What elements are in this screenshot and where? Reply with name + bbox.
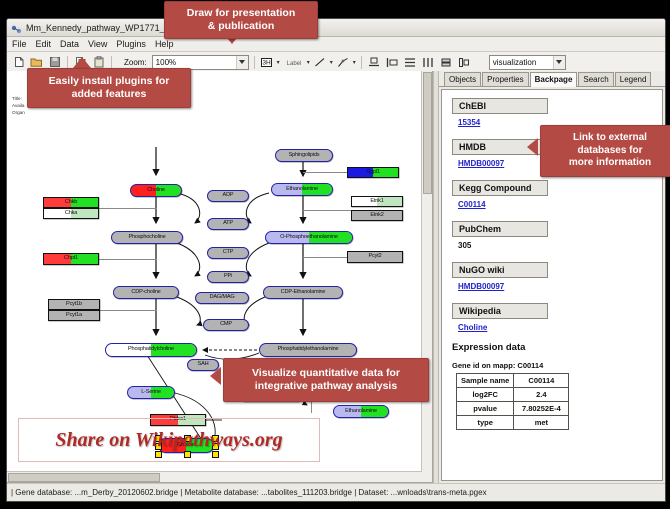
scrollbar-thumb[interactable]: [423, 72, 432, 194]
table-cell-key: Sample name: [457, 374, 514, 388]
distribute-vertical-icon[interactable]: [403, 55, 418, 70]
node-label: Pcyt2: [369, 254, 382, 260]
expression-data-heading: Expression data: [452, 342, 662, 353]
database-link-nugo-wiki[interactable]: HMDB00097: [458, 282, 662, 291]
node-label: Chpt1: [64, 256, 78, 262]
line-icon[interactable]: [313, 55, 328, 70]
menu-item-help[interactable]: Help: [155, 39, 174, 49]
node-label: ATP: [223, 221, 233, 227]
enzyme-connector: [303, 210, 353, 211]
database-link-kegg-compound[interactable]: C00114: [458, 200, 662, 209]
canvas-horizontal-scrollbar[interactable]: [7, 471, 422, 482]
callout-plugins: Easily install plugins for added feature…: [27, 68, 191, 108]
table-cell-key: pvalue: [457, 402, 514, 416]
tab-legend[interactable]: Legend: [615, 72, 652, 86]
zoom-value: 100%: [156, 58, 176, 67]
table-row: log2FC2.4: [457, 388, 569, 402]
menu-item-plugins[interactable]: Plugins: [116, 39, 146, 49]
table-row: typemet: [457, 416, 569, 430]
database-name-chebi: ChEBI: [452, 98, 548, 114]
node-label: Phosphocholine: [128, 235, 165, 241]
zoom-label: Zoom:: [124, 58, 147, 67]
database-name-wikipedia: Wikipedia: [452, 303, 548, 319]
chevron-down-icon[interactable]: [553, 56, 565, 69]
node-label: CMP: [220, 322, 232, 328]
callout-visualize-line2: integrative pathway analysis: [255, 380, 397, 393]
node-label: Sgpl1: [366, 170, 379, 176]
stack-icon[interactable]: [439, 55, 454, 70]
database-value-pubchem: 305: [458, 241, 662, 250]
callout-links-line2: databases for: [577, 145, 642, 158]
gene-product-node[interactable]: Sgpl1: [347, 167, 399, 178]
new-file-icon[interactable]: [11, 55, 26, 70]
tab-objects[interactable]: Objects: [444, 72, 481, 86]
gene-id-line: Gene id on mapp: C00114: [452, 361, 662, 370]
chevron-down-icon[interactable]: [236, 56, 248, 69]
callout-share: Share on Wikipathways.org: [18, 418, 320, 462]
tab-label: Properties: [487, 75, 523, 84]
node-label: Etnk2: [370, 213, 383, 219]
tab-backpage[interactable]: Backpage: [530, 72, 578, 87]
node-label: O-Phosphoethanolamine: [280, 235, 338, 241]
visualization-combo[interactable]: visualization: [489, 55, 566, 70]
gene-product-node[interactable]: Pcyt1b: [48, 299, 100, 310]
node-label: Phosphatidylethanolamine: [278, 347, 339, 353]
metabolite-node[interactable]: CTP: [207, 247, 249, 259]
chevron-down-icon[interactable]: ▾: [307, 59, 310, 66]
node-label: CTP: [223, 250, 234, 256]
metabolite-node[interactable]: ADP: [207, 190, 249, 202]
table-cell-value: met: [514, 416, 569, 430]
metabolite-node[interactable]: Ethanolamine: [271, 183, 333, 196]
expression-data-table: Sample nameC00114log2FC2.4pvalue7.80252E…: [456, 373, 569, 430]
node-label: Ethanolamine: [286, 187, 318, 193]
callout-plugins-line2: added features: [72, 88, 147, 101]
node-label: PPi: [224, 274, 232, 280]
database-name-kegg-compound: Kegg Compound: [452, 180, 548, 196]
metabolite-node[interactable]: Ethanolamine: [333, 405, 389, 418]
database-link-wikipedia[interactable]: Choline: [458, 323, 662, 332]
callout-links: Link to external databases for more info…: [540, 125, 670, 177]
callout-plugins-line1: Easily install plugins for: [49, 75, 170, 88]
gene-product-node[interactable]: Etnk2: [351, 210, 403, 221]
enzyme-connector: [99, 259, 157, 260]
tab-label: Search: [583, 75, 608, 84]
side-panel-tabs: ObjectsPropertiesBackpageSearchLegend: [439, 71, 665, 87]
toolbar-separator: [361, 56, 362, 69]
enzyme-connector: [99, 208, 157, 209]
status-text: | Gene database: ...m_Derby_20120602.bri…: [11, 488, 487, 497]
metabolite-node[interactable]: ATP: [207, 218, 249, 230]
scrollbar-thumb[interactable]: [8, 473, 160, 482]
callout-links-pointer: [527, 138, 538, 156]
enzyme-connector: [303, 172, 349, 173]
metabolite-node[interactable]: CDP-choline: [113, 286, 179, 299]
callout-visualize-line1: Visualize quantitative data for: [252, 367, 400, 380]
tab-properties[interactable]: Properties: [482, 72, 528, 86]
table-row: Sample nameC00114: [457, 374, 569, 388]
callout-links-line1: Link to external: [573, 132, 647, 145]
metabolite-node[interactable]: Phosphocholine: [111, 231, 183, 244]
node-label: ADP: [223, 193, 234, 199]
node-label: CDP-Ethanolamine: [281, 290, 326, 296]
table-cell-key: type: [457, 416, 514, 430]
node-label: Ethanolamine: [345, 409, 377, 415]
callout-draw-line2: & publication: [208, 20, 275, 33]
node-label: Sphingolipids: [289, 153, 320, 159]
node-label: CDP-choline: [131, 290, 160, 296]
metabolite-node[interactable]: CMP: [203, 319, 249, 331]
table-cell-value: C00114: [514, 374, 569, 388]
node-label: Choline: [147, 188, 165, 194]
metabolite-node[interactable]: PPi: [207, 271, 249, 283]
toolbar-separator: [111, 56, 112, 69]
metabolite-node[interactable]: DAG/MAG: [195, 292, 249, 304]
gene-product-node[interactable]: Chpt1: [43, 253, 99, 265]
database-name-pubchem: PubChem: [452, 221, 548, 237]
node-label: Chkb: [65, 200, 77, 206]
node-label: SAH: [198, 362, 209, 368]
menu-bar: File Edit Data View Plugins Help: [7, 37, 665, 52]
enzyme-connector: [303, 257, 349, 258]
callout-visualize: Visualize quantitative data for integrat…: [223, 358, 429, 402]
toolbar-separator: [67, 56, 68, 69]
callout-links-line3: more information: [569, 157, 651, 170]
tab-label: Backpage: [535, 75, 573, 84]
table-cell-value: 7.80252E-4: [514, 402, 569, 416]
svg-text:3H: 3H: [262, 59, 271, 66]
node-label: Chka: [65, 211, 77, 217]
visualization-value: visualization: [493, 58, 537, 67]
metabolite-node[interactable]: L-Serine: [127, 386, 175, 399]
gene-product-node[interactable]: Chka: [43, 208, 99, 219]
chevron-down-icon[interactable]: ▾: [330, 59, 333, 66]
node-label: Etnk1: [370, 199, 383, 205]
gene-product-node[interactable]: Chkb: [43, 197, 99, 208]
distribute-horizontal-icon[interactable]: [421, 55, 436, 70]
node-label: DAG/MAG: [209, 295, 234, 301]
tab-search[interactable]: Search: [578, 72, 613, 86]
chevron-down-icon[interactable]: ▾: [277, 59, 280, 66]
table-cell-value: 2.4: [514, 388, 569, 402]
toolbar-separator: [254, 56, 255, 69]
node-label: Pcyt1a: [66, 313, 82, 319]
status-bar: | Gene database: ...m_Derby_20120602.bri…: [7, 483, 665, 501]
align-top-icon[interactable]: [367, 55, 382, 70]
enzyme-connector: [100, 310, 157, 311]
metabolite-node[interactable]: CDP-Ethanolamine: [263, 286, 343, 299]
title-bar: Mm_Kennedy_pathway_WP1771_45176.gpml: [7, 19, 665, 37]
metabolite-node[interactable]: Phosphatidylcholine: [105, 343, 197, 357]
screenshot-root: Mm_Kennedy_pathway_WP1771_45176.gpml Fil…: [0, 0, 670, 509]
callout-visualize-pointer-left: [210, 367, 221, 385]
menu-item-view[interactable]: View: [88, 39, 107, 49]
label-icon[interactable]: Label: [283, 55, 305, 70]
table-cell-key: log2FC: [457, 388, 514, 402]
data-node-icon[interactable]: 3H: [260, 55, 275, 70]
pathvisio-icon: [11, 22, 22, 33]
canvas-vertical-scrollbar[interactable]: [421, 71, 432, 482]
database-name-nugo-wiki: NuGO wiki: [452, 262, 548, 278]
node-label: Pcyt1b: [66, 302, 82, 308]
metabolite-node[interactable]: Phosphatidylethanolamine: [259, 343, 357, 357]
chevron-down-icon[interactable]: ▾: [353, 59, 356, 66]
gene-product-node[interactable]: Pcyt2: [347, 251, 403, 263]
tab-label: Legend: [620, 75, 647, 84]
tab-label: Objects: [449, 75, 476, 84]
group-icon[interactable]: [457, 55, 472, 70]
align-left-icon[interactable]: [385, 55, 400, 70]
anchor-line-icon[interactable]: [336, 55, 351, 70]
menu-item-file[interactable]: File: [12, 39, 27, 49]
node-label: L-Serine: [141, 390, 161, 396]
metabolite-node[interactable]: O-Phosphoethanolamine: [265, 231, 353, 244]
gene-product-node[interactable]: Pcyt1a: [48, 310, 100, 321]
callout-share-text: Share on Wikipathways.org: [55, 429, 282, 452]
metabolite-node[interactable]: Choline: [130, 184, 182, 197]
menu-item-data[interactable]: Data: [60, 39, 79, 49]
menu-item-edit[interactable]: Edit: [36, 39, 52, 49]
callout-draw: Draw for presentation & publication: [164, 1, 318, 39]
table-row: pvalue7.80252E-4: [457, 402, 569, 416]
callout-draw-line1: Draw for presentation: [187, 7, 296, 20]
svg-text:Label: Label: [286, 61, 301, 67]
node-label: Phosphatidylcholine: [128, 347, 174, 353]
callout-plugins-pointer: [73, 57, 91, 68]
metabolite-node[interactable]: Sphingolipids: [275, 149, 333, 162]
gene-product-node[interactable]: Etnk1: [351, 196, 403, 207]
